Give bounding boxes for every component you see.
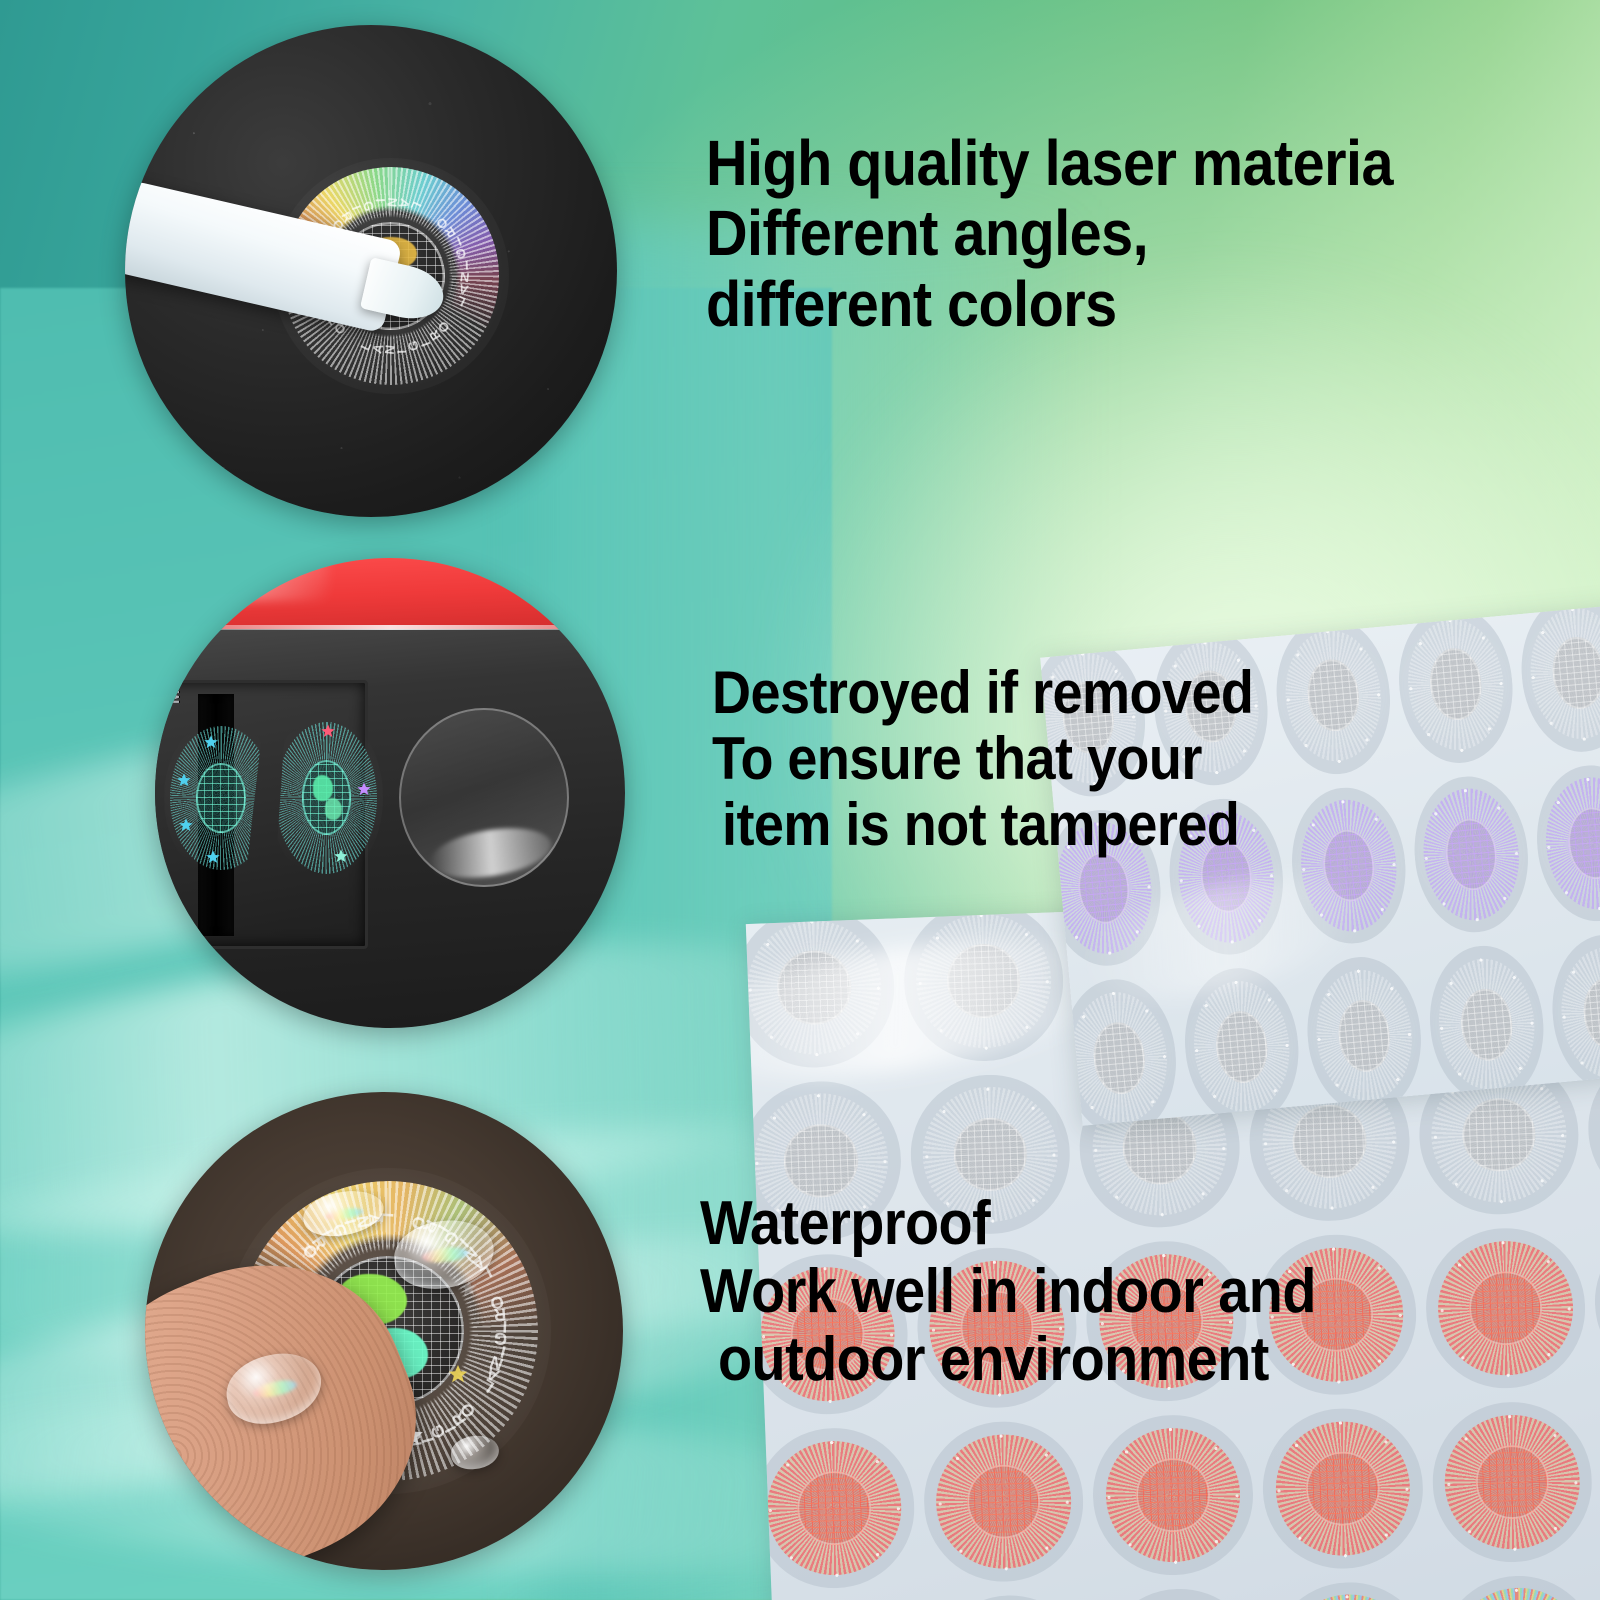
photo-destroyed-sticker: MADE IN CHINA [155,558,625,1028]
photo-waterproof-droplets: ORIGINALORIGINALORIGINALORIGINALORIGINAL… [145,1092,623,1570]
sticker-residue-circle [399,708,568,887]
seal-star-ring [746,905,897,1071]
seal-star-ring [927,1592,1093,1600]
torn-hologram-right [270,713,383,882]
hologram-seal [1436,1573,1600,1600]
hologram-seal [1301,952,1428,1118]
seal-star-ring [901,898,1067,1064]
seal-star-ring [1546,930,1600,1096]
star-icon [176,772,192,788]
hologram-seal [1097,1586,1263,1600]
device-edge-highlight [155,625,625,630]
hologram-seal [1530,760,1600,926]
hologram-seal [927,1592,1093,1600]
seal-star-ring [1423,941,1550,1107]
made-in-china-label: MADE IN CHINA [164,558,184,704]
feature-line: different colors [706,269,1393,339]
seal-star-ring [921,1419,1087,1585]
photo-pen-on-hologram: ORIGINALORIGINALORIGINALORIGINAL [125,25,617,517]
star-icon [205,849,221,865]
seal-star-ring [1408,771,1535,937]
seal-star-ring [1267,1579,1433,1600]
ring-text-char: L [478,1374,498,1397]
star-icon [178,817,194,833]
device-red-accent [155,558,625,629]
hologram-seal [1178,964,1305,1126]
seal-star-ring [1423,1226,1589,1392]
seal-star-ring [1436,1573,1600,1600]
seal-star-ring [1592,1219,1600,1385]
hologram-seal [1090,1412,1256,1578]
feature-text-laser-material: High quality laser materia Different ang… [706,128,1469,339]
feature-line: Destroyed if removed [712,660,1253,726]
feature-line: High quality laser materia [706,128,1393,198]
hologram-seal [921,1419,1087,1585]
seal-star-ring [1178,964,1305,1126]
hologram-seal [1515,594,1600,756]
feature-text-waterproof: Waterproof Work well in indoor and outdo… [700,1190,1384,1395]
feature-line: Work well in indoor and [700,1258,1316,1326]
droplet-sparkle [325,1207,363,1222]
hologram-seal [746,905,897,1071]
feature-line: item is not tampered [722,792,1254,858]
continent-shape [325,798,343,820]
star-icon [298,1240,318,1260]
feature-line: To ensure that your [712,726,1253,792]
droplet-sparkle [252,1377,298,1401]
seal-star-ring [1301,952,1428,1118]
hologram-seal [1423,1226,1589,1392]
hologram-seal [1260,1406,1426,1572]
globe-hologram [196,763,246,833]
star-icon [447,1363,469,1385]
feature-line: outdoor environment [718,1326,1318,1394]
feature-text-tamper-evident: Destroyed if removed To ensure that your… [712,660,1314,858]
star-icon [320,723,336,739]
hologram-seal [1267,1579,1433,1600]
feature-line: Waterproof [700,1190,1316,1258]
star-icon [356,781,372,797]
hologram-seal [1429,1399,1595,1565]
seal-star-ring [1392,601,1519,767]
product-feature-image: ORIGINALORIGINALORIGINALORIGINAL MADE IN… [0,0,1600,1600]
seal-star-ring [1530,760,1600,926]
hologram-seal [1592,1219,1600,1385]
star-icon [333,848,349,864]
continent-shape [313,775,334,800]
ring-text-char: L [407,199,424,213]
hologram-seal [1392,601,1519,767]
hologram-seal [1423,941,1550,1107]
seal-star-ring [1429,1399,1595,1565]
seal-star-ring [1515,594,1600,756]
hologram-seal [751,1425,917,1591]
hologram-seal [1408,771,1535,937]
seal-star-ring [1260,1406,1426,1572]
seal-star-ring [1090,1412,1256,1578]
droplet-sparkle [421,1245,468,1264]
star-icon [203,734,219,750]
globe-hologram [302,760,352,834]
feature-line: Different angles, [706,198,1393,268]
seal-star-ring [751,1425,917,1591]
hologram-seal [1546,930,1600,1096]
hologram-seal [901,898,1067,1064]
seal-star-ring [1097,1586,1263,1600]
